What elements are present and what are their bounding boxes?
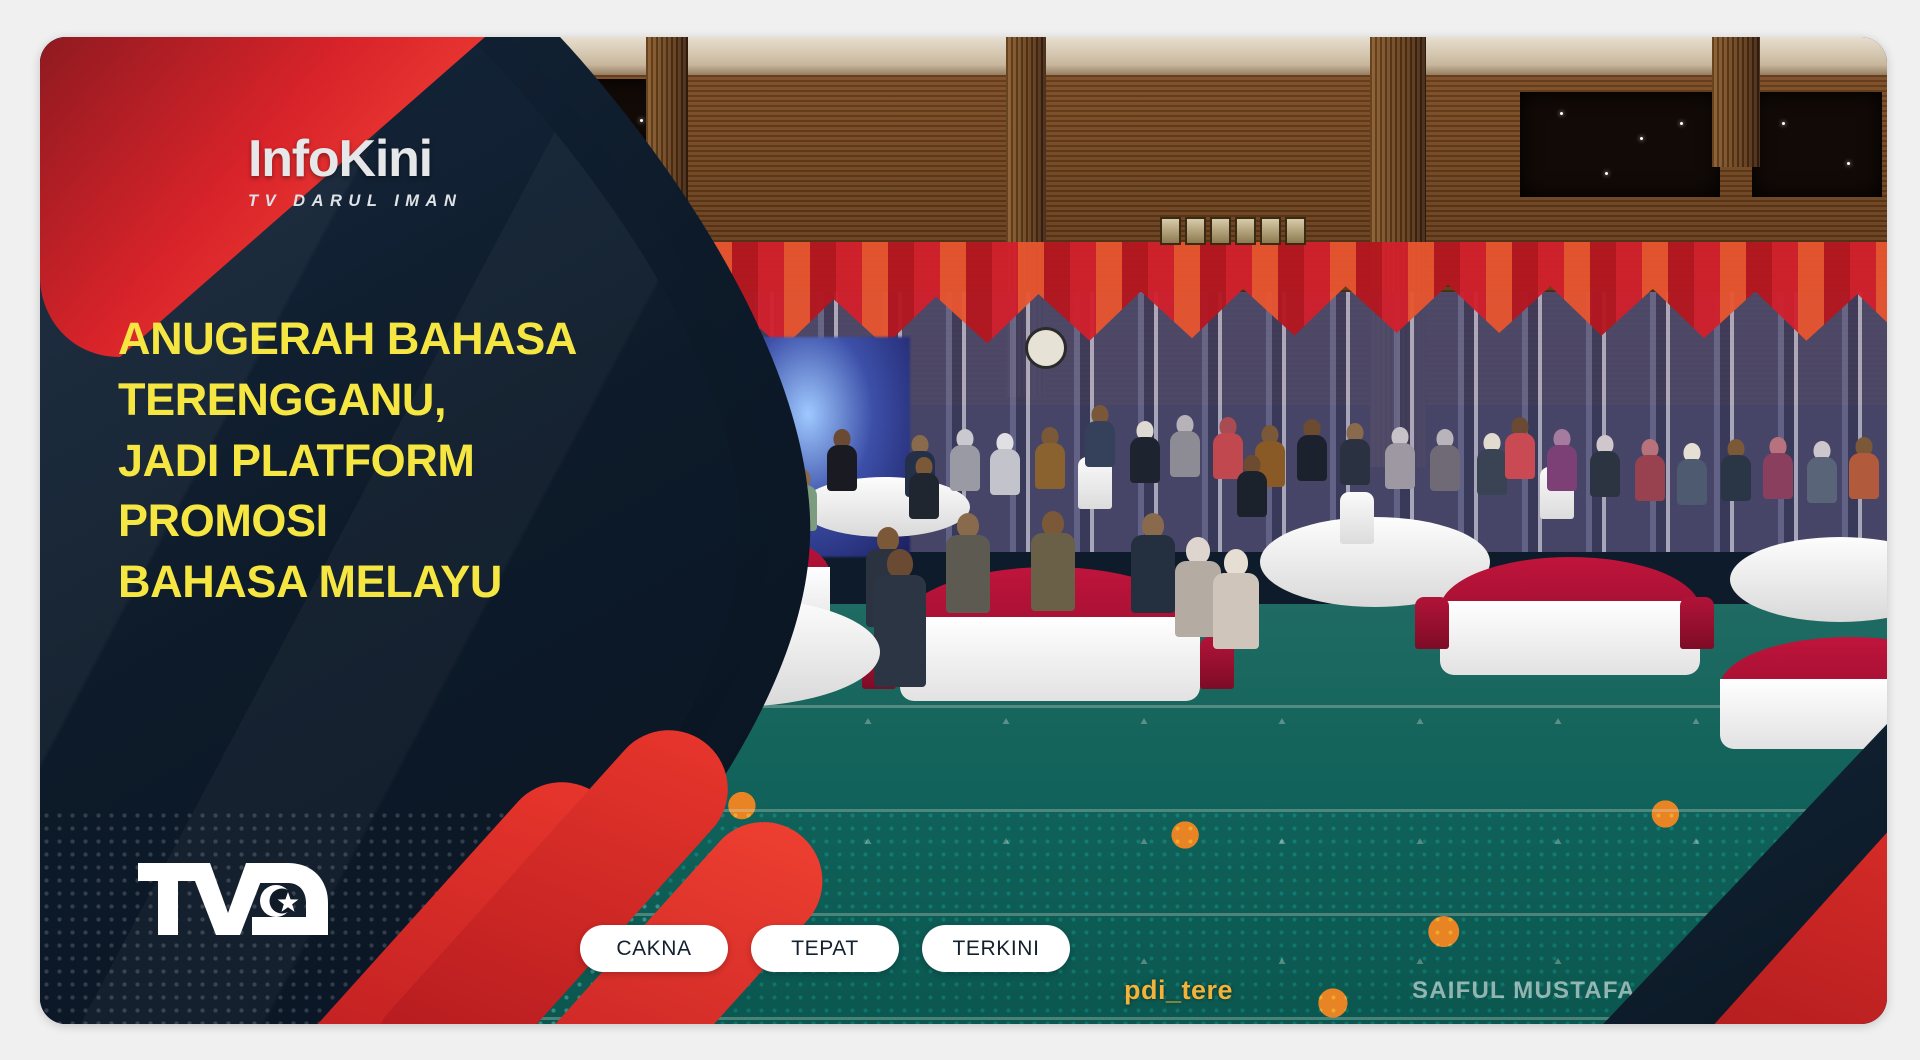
wood-column: [1712, 37, 1760, 167]
guest: [822, 429, 862, 499]
window-pane: [1520, 92, 1720, 197]
guest: [1802, 441, 1842, 511]
screenshot-canvas: pdi_tere SAIFUL MUSTAFA InfoKini TV DARU…: [0, 0, 1920, 1060]
headline-line-5: BAHASA MELAYU: [118, 552, 678, 613]
headline: ANUGERAH BAHASA TERENGGANU, JADI PLATFOR…: [118, 309, 678, 613]
guest: [1335, 423, 1375, 493]
guest: [945, 429, 985, 499]
logo-subtitle: TV DARUL IMAN: [248, 192, 462, 211]
framed-portraits: [1160, 217, 1306, 245]
guest: [1080, 405, 1120, 477]
guest: [1380, 427, 1420, 497]
window-pane: [1752, 92, 1882, 197]
guest: [1542, 429, 1582, 499]
pill-terkini[interactable]: TERKINI: [922, 925, 1070, 972]
guest: [985, 433, 1025, 503]
news-card: pdi_tere SAIFUL MUSTAFA InfoKini TV DARU…: [40, 37, 1887, 1024]
headline-line-3: JADI PLATFORM: [118, 431, 678, 492]
front-guest: [868, 549, 932, 699]
guest: [1425, 429, 1465, 499]
infokini-logo: InfoKini TV DARUL IMAN: [248, 133, 462, 211]
wall-clock: [1025, 327, 1067, 369]
tvdi-station-logo: [136, 857, 336, 947]
vip-guest: [1208, 549, 1264, 659]
headline-line-4: PROMOSI: [118, 491, 678, 552]
logo-title: InfoKini: [248, 133, 462, 185]
vip-guest: [1025, 511, 1081, 621]
guest: [1125, 421, 1165, 491]
vip-guest: [940, 513, 996, 623]
chair: [1340, 492, 1374, 544]
pill-cakna[interactable]: CAKNA: [580, 925, 728, 972]
guest: [1165, 415, 1205, 485]
chair: [1680, 597, 1714, 649]
guest: [1030, 427, 1070, 497]
guest: [1585, 435, 1625, 505]
banquet-table: [1440, 557, 1700, 662]
guest: [1292, 419, 1332, 489]
guest: [1844, 437, 1884, 507]
guest: [1630, 439, 1670, 509]
guest: [1500, 417, 1540, 489]
pill-tepat[interactable]: TEPAT: [751, 925, 899, 972]
headline-line-1: ANUGERAH BAHASA: [118, 309, 678, 370]
headline-line-2: TERENGGANU,: [118, 370, 678, 431]
guest: [1230, 455, 1274, 535]
guest: [1716, 439, 1756, 509]
chair: [1415, 597, 1449, 649]
guest: [1758, 437, 1798, 507]
guest: [1672, 443, 1712, 513]
tagline-pills: CAKNA TEPAT TERKINI: [580, 925, 1070, 972]
